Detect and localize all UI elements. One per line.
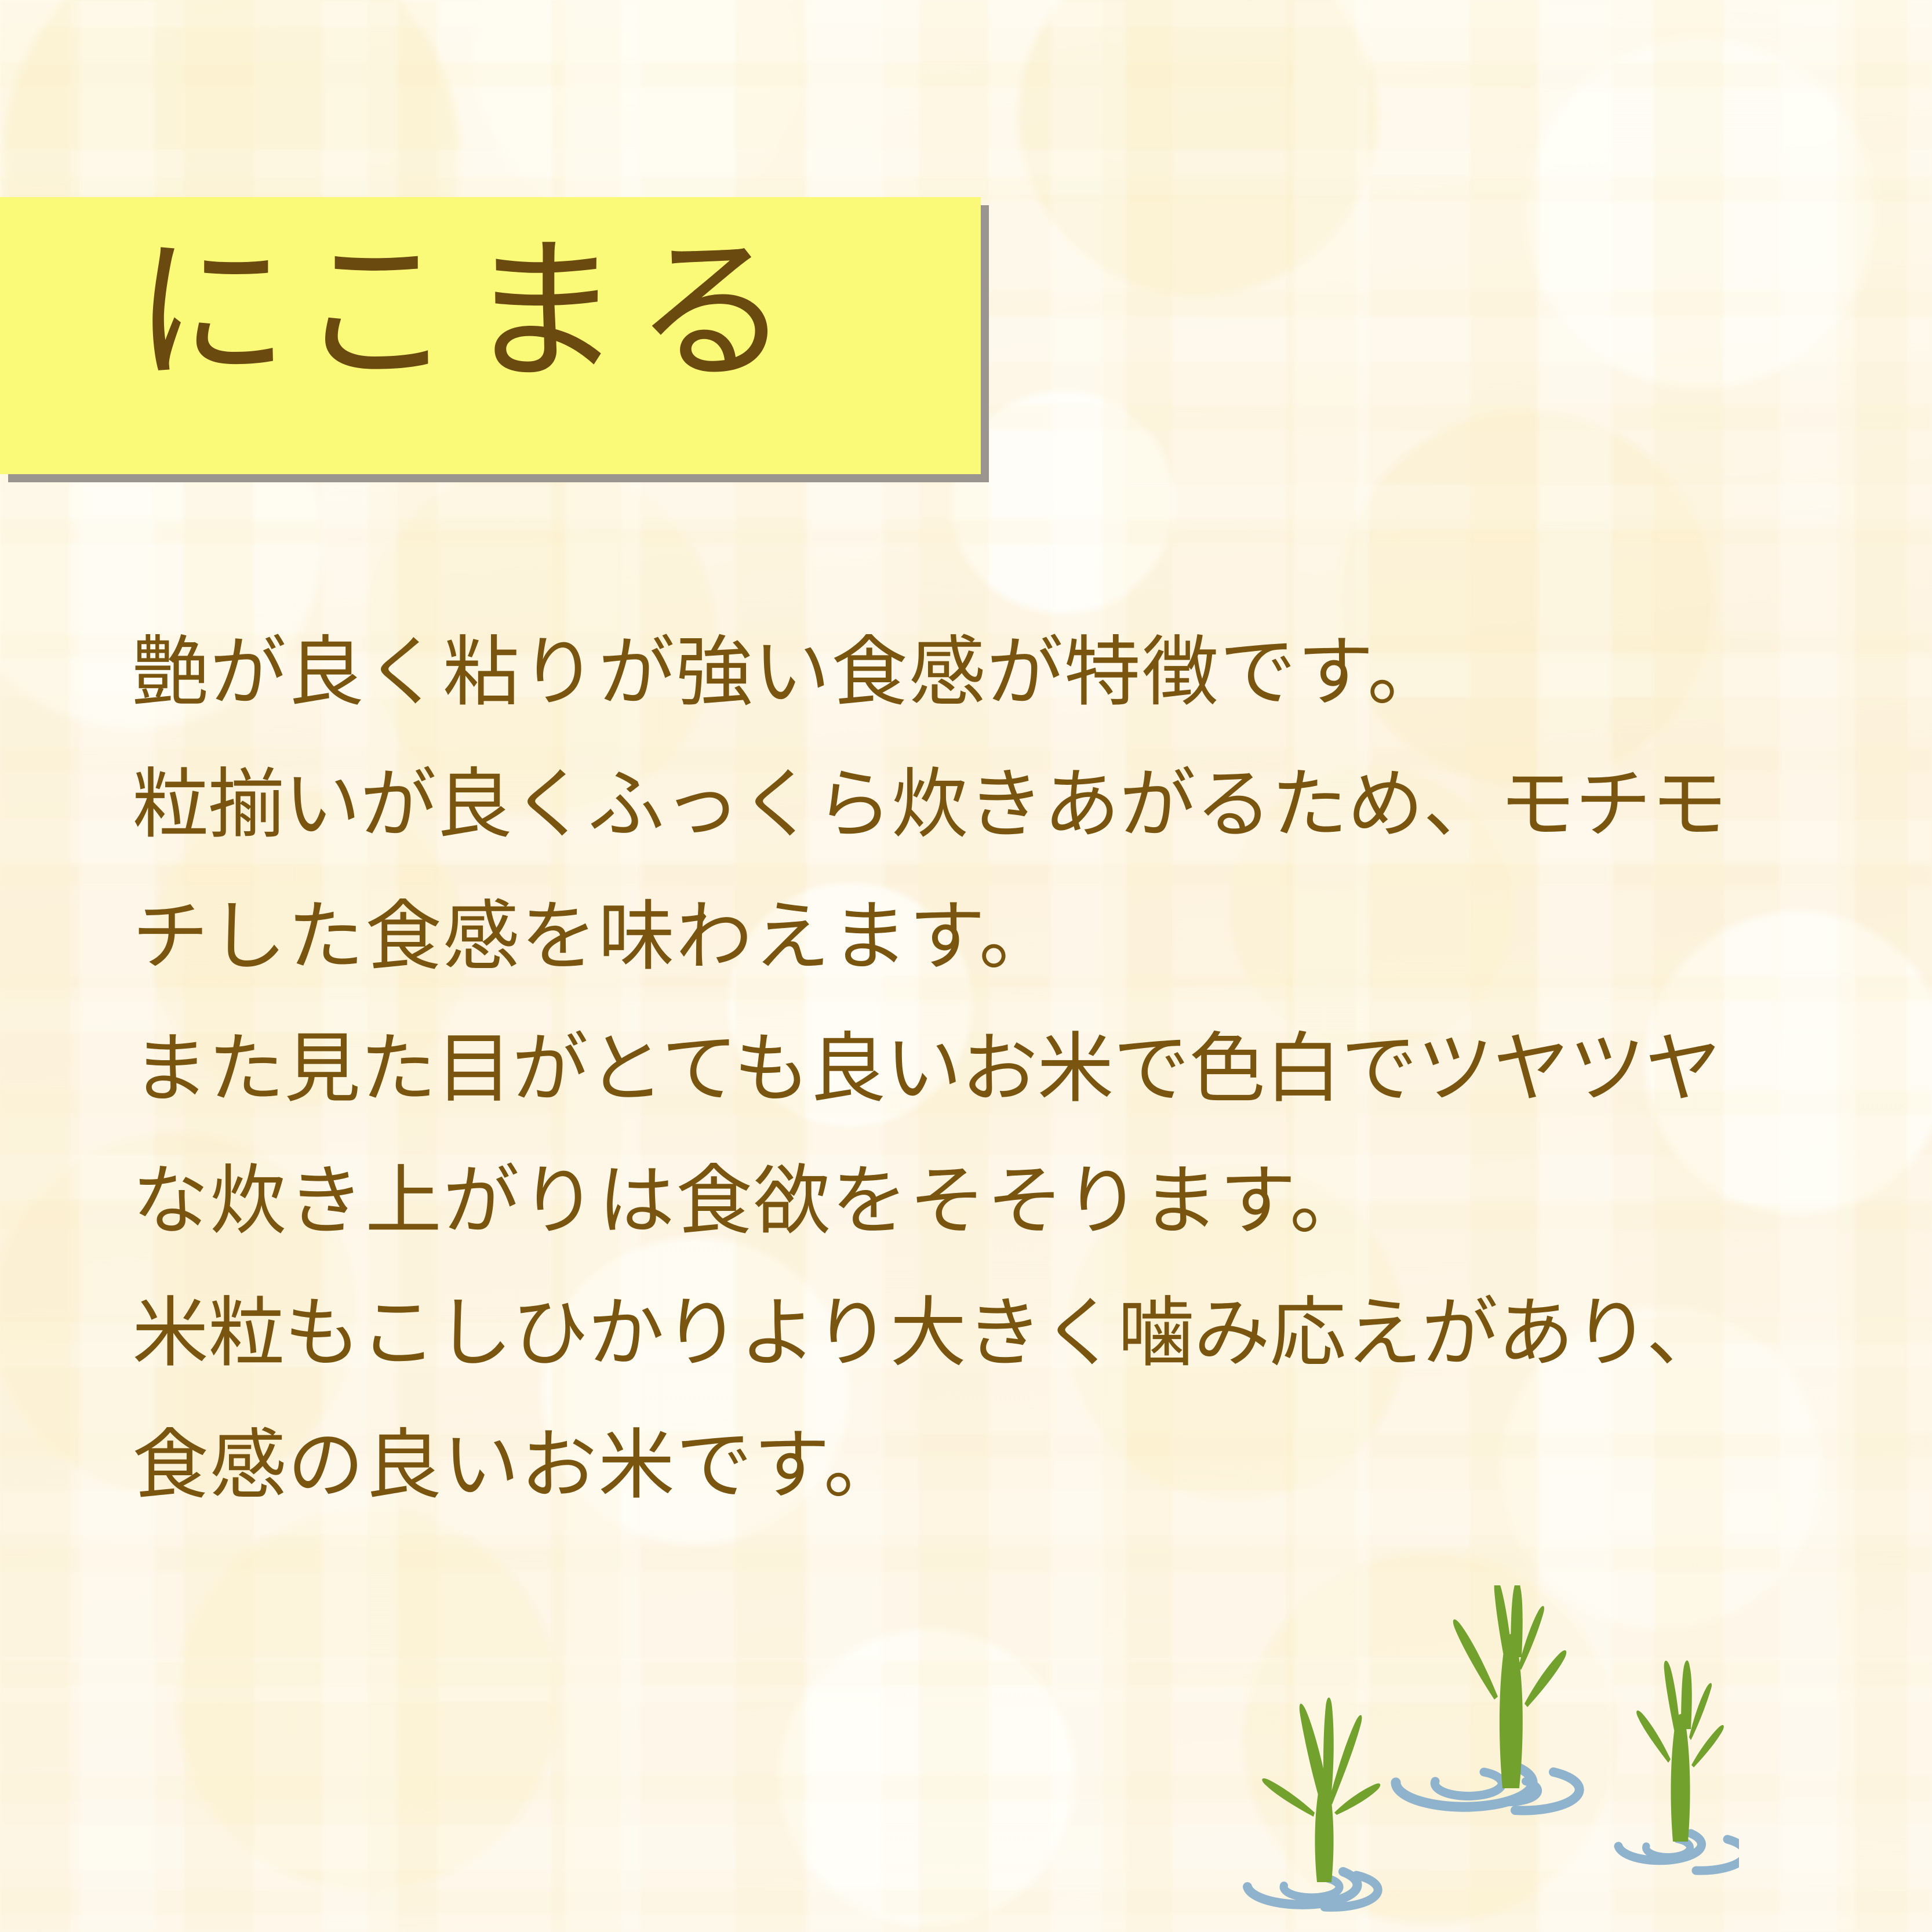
body-copy: 艶が良く粘りが強い食感が特徴です。 粒揃いが良くふっくら炊きあがるため、モチモ … [132,606,1773,1531]
page-title: にこまる [133,231,803,393]
body-line-4: また見た目がとても良いお米で色白でツヤツヤ [132,1003,1773,1135]
body-line-3: チした食感を味わえます。 [132,871,1773,1003]
rice-plant-left [1262,1698,1380,1883]
body-line-5: な炊き上がりは食欲をそそります。 [132,1135,1773,1267]
water-ripple-middle [1396,1765,1580,1810]
page-canvas: にこまる 艶が良く粘りが強い食感が特徴です。 粒揃いが良くふっくら炊きあがるため… [0,0,1932,1932]
water-ripple-left [1247,1872,1378,1907]
rice-seedlings-illustration [1183,1585,1739,1932]
rice-plant-right [1636,1661,1724,1842]
body-line-6: 米粒もこしひかりより大きく噛み応えがあり、 [132,1267,1773,1399]
rice-plant-middle [1453,1585,1566,1788]
body-line-7: 食感の良いお米です。 [132,1399,1773,1531]
body-line-2: 粒揃いが良くふっくら炊きあがるため、モチモ [132,738,1773,871]
body-line-1: 艶が良く粘りが強い食感が特徴です。 [132,606,1773,738]
